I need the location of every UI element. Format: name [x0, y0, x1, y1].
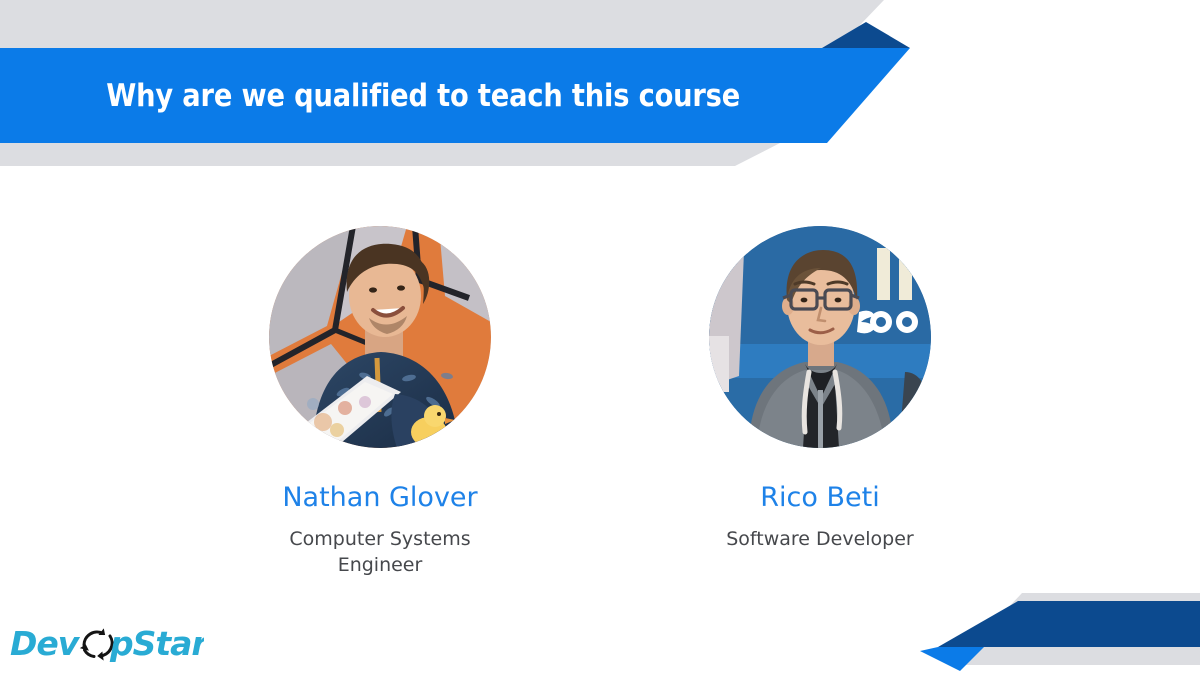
avatar-nathan-glover: [269, 226, 491, 448]
footer-blue-wedge: [920, 647, 984, 671]
person-name: Nathan Glover: [282, 482, 477, 513]
people-row: Nathan Glover Computer Systems Engineer: [0, 226, 1200, 578]
devopstar-logo[interactable]: Dev pStar: [8, 621, 204, 667]
logo-text-pstar: pStar: [109, 624, 204, 663]
avatar-rico-beti: [709, 226, 931, 448]
slide: Why are we qualified to teach this cours…: [0, 0, 1200, 675]
logo-text-dev: Dev: [10, 624, 81, 663]
footer-grey-band: [954, 593, 1200, 665]
person-role: Computer Systems Engineer: [273, 527, 488, 578]
person-card: Rico Beti Software Developer: [689, 226, 951, 578]
svg-text:pStar: pStar: [109, 624, 204, 663]
devops-cycle-icon: [81, 630, 112, 660]
person-card: Nathan Glover Computer Systems Engineer: [249, 226, 511, 578]
footer-decoration: [880, 585, 1200, 675]
page-title: Why are we qualified to teach this cours…: [0, 48, 840, 143]
person-name: Rico Beti: [760, 482, 879, 513]
footer-navy-band: [938, 601, 1200, 647]
header-navy-wedge: [822, 22, 910, 48]
header-grey-band-top: [0, 0, 884, 48]
person-role: Software Developer: [726, 527, 914, 553]
header-grey-band-bottom: [0, 143, 780, 166]
svg-text:Dev: Dev: [10, 624, 81, 663]
page-title-text: Why are we qualified to teach this cours…: [106, 78, 740, 114]
